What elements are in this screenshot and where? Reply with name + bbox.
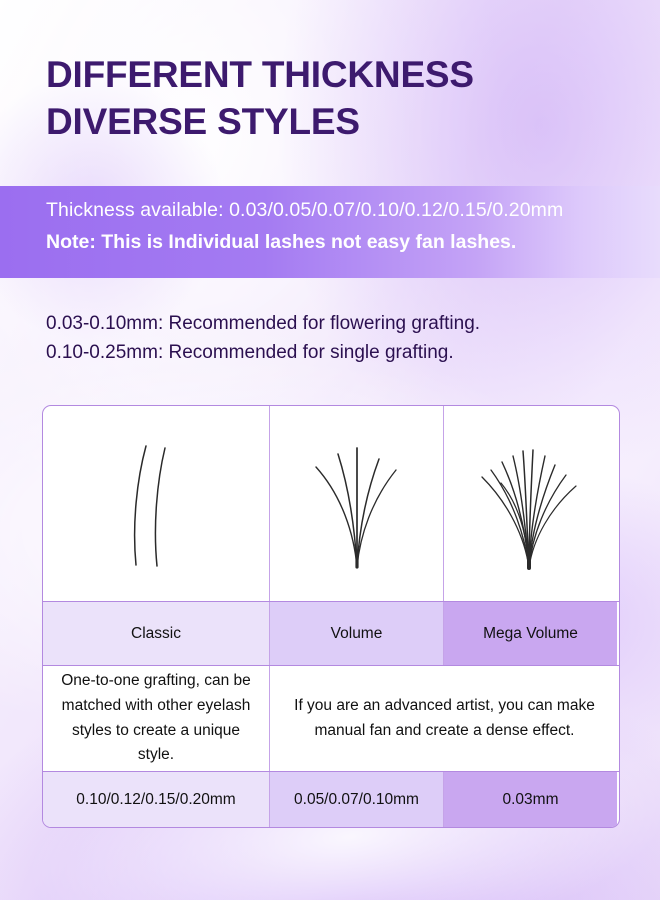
header-cell-classic: Classic [43,602,270,665]
header-cell-volume: Volume [270,602,444,665]
thickness-value-mega-volume: 0.03mm [503,791,559,809]
description-text-volume-mega: If you are an advanced artist, you can m… [282,694,607,744]
lash-style-comparison-table: Classic Volume Mega Volume One-to-one gr… [42,405,620,828]
style-name-mega-volume: Mega Volume [483,625,578,643]
thickness-available-text: Thickness available: 0.03/0.05/0.07/0.10… [46,199,660,222]
recommendation-single: 0.10-0.25mm: Recommended for single graf… [46,338,480,367]
table-row-style-names: Classic Volume Mega Volume [43,601,619,666]
recommendation-flowering: 0.03-0.10mm: Recommended for flowering g… [46,309,480,338]
thickness-cell-volume: 0.05/0.07/0.10mm [270,772,444,827]
thickness-cell-classic: 0.10/0.12/0.15/0.20mm [43,772,270,827]
header-cell-mega-volume: Mega Volume [444,602,617,665]
page-title-line-1: DIFFERENT THICKNESS [46,52,626,99]
banner-note-text: Note: This is Individual lashes not easy… [46,231,660,254]
thickness-cell-mega-volume: 0.03mm [444,772,617,827]
thickness-value-volume: 0.05/0.07/0.10mm [294,791,419,809]
table-row-illustrations [43,406,619,601]
cell-illustration-volume [270,406,444,601]
recommendation-list: 0.03-0.10mm: Recommended for flowering g… [46,309,480,368]
description-text-classic: One-to-one grafting, can be matched with… [55,669,257,768]
thickness-value-classic: 0.10/0.12/0.15/0.20mm [76,791,235,809]
description-cell-volume-mega: If you are an advanced artist, you can m… [270,666,619,771]
cell-illustration-classic [43,406,270,601]
mega-volume-fan-icon [471,434,591,574]
page-title: DIFFERENT THICKNESS DIVERSE STYLES [46,52,626,146]
table-row-thickness-values: 0.10/0.12/0.15/0.20mm 0.05/0.07/0.10mm 0… [43,771,619,827]
cell-illustration-mega-volume [444,406,617,601]
table-row-descriptions: One-to-one grafting, can be matched with… [43,666,619,771]
description-cell-classic: One-to-one grafting, can be matched with… [43,666,270,771]
style-name-volume: Volume [331,625,383,643]
classic-lash-icon [96,434,216,574]
page-title-line-2: DIVERSE STYLES [46,99,626,146]
style-name-classic: Classic [131,625,181,643]
thickness-banner: Thickness available: 0.03/0.05/0.07/0.10… [0,186,660,278]
volume-fan-icon [302,434,412,574]
